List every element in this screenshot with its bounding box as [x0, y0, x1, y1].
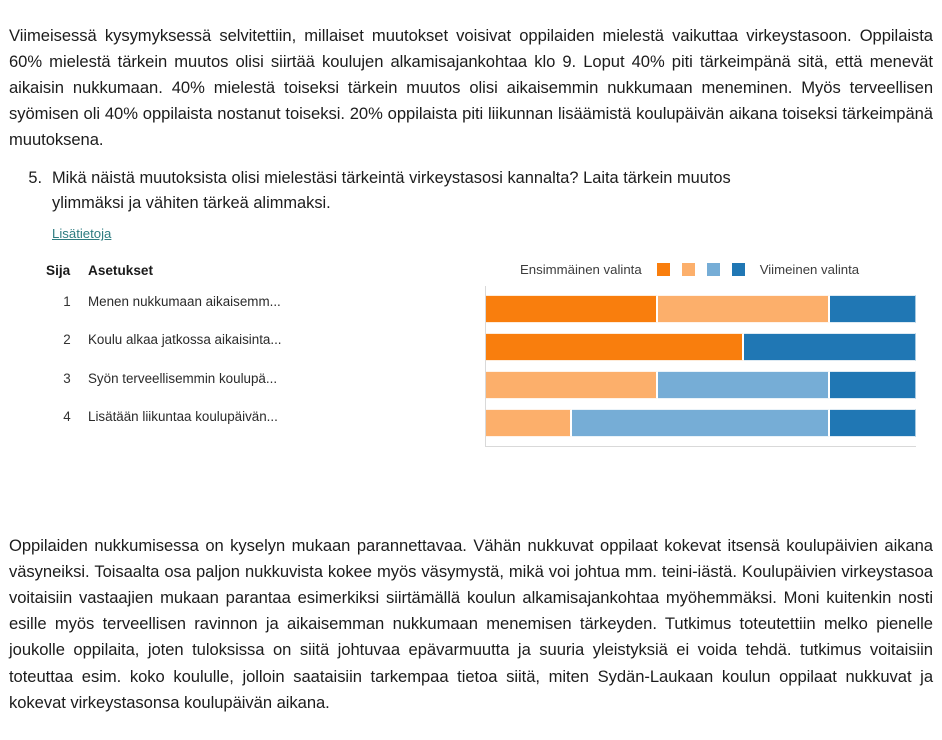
question-block: 5. Mikä näistä muutoksista olisi mielest… — [0, 166, 942, 243]
row-rank: 1 — [46, 294, 88, 309]
column-header-options: Asetukset — [88, 263, 153, 278]
ranking-widget: Sija Asetukset 1 Menen nukkumaan aikaise… — [0, 258, 942, 458]
legend-swatches — [651, 263, 751, 276]
legend-swatch-1 — [657, 263, 670, 276]
bar-segment[interactable] — [830, 409, 916, 437]
bar-row[interactable] — [486, 371, 916, 399]
bar-row[interactable] — [486, 333, 916, 361]
bar-segment[interactable] — [658, 371, 830, 399]
bar-segment[interactable] — [572, 409, 830, 437]
legend-swatch-2 — [682, 263, 695, 276]
row-rank: 4 — [46, 409, 88, 424]
bar-segment[interactable] — [486, 333, 744, 361]
table-row[interactable]: 1 Menen nukkumaan aikaisemm... — [46, 282, 466, 321]
more-info-link[interactable]: Lisätietoja — [52, 226, 111, 242]
row-rank: 3 — [46, 371, 88, 386]
row-rank: 2 — [46, 332, 88, 347]
legend-swatch-4 — [732, 263, 745, 276]
column-header-rank: Sija — [46, 263, 88, 278]
table-header-row: Sija Asetukset — [46, 258, 466, 282]
table-row[interactable]: 4 Lisätään liikuntaa koulupäivän... — [46, 398, 466, 437]
row-option: Syön terveellisemmin koulupä... — [88, 371, 277, 386]
row-option: Koulu alkaa jatkossa aikaisinta... — [88, 332, 282, 347]
bar-segment[interactable] — [744, 333, 916, 361]
chart-plot-area — [485, 286, 916, 447]
legend-label-first: Ensimmäinen valinta — [520, 262, 642, 277]
question-number: 5. — [16, 166, 42, 191]
legend-swatch-3 — [707, 263, 720, 276]
table-row[interactable]: 2 Koulu alkaa jatkossa aikaisinta... — [46, 321, 466, 360]
bar-segment[interactable] — [486, 371, 658, 399]
table-row[interactable]: 3 Syön terveellisemmin koulupä... — [46, 359, 466, 398]
stacked-bar-chart: Ensimmäinen valinta Viimeinen valinta — [485, 258, 917, 448]
question-row: 5. Mikä näistä muutoksista olisi mielest… — [0, 166, 942, 216]
bar-segment[interactable] — [486, 295, 658, 323]
bar-segment[interactable] — [486, 409, 572, 437]
bar-row[interactable] — [486, 409, 916, 437]
question-text: Mikä näistä muutoksista olisi mielestäsi… — [52, 166, 752, 216]
bar-segment[interactable] — [658, 295, 830, 323]
row-option: Lisätään liikuntaa koulupäivän... — [88, 409, 278, 424]
intro-paragraph: Viimeisessä kysymyksessä selvitettiin, m… — [9, 23, 933, 154]
ranking-table: Sija Asetukset 1 Menen nukkumaan aikaise… — [46, 258, 466, 436]
row-option: Menen nukkumaan aikaisemm... — [88, 294, 281, 309]
bar-segment[interactable] — [830, 295, 916, 323]
chart-legend: Ensimmäinen valinta Viimeinen valinta — [520, 258, 859, 280]
bar-row[interactable] — [486, 295, 916, 323]
legend-label-last: Viimeinen valinta — [760, 262, 859, 277]
bar-segment[interactable] — [830, 371, 916, 399]
conclusion-paragraph: Oppilaiden nukkumisessa on kyselyn mukaa… — [9, 533, 933, 716]
